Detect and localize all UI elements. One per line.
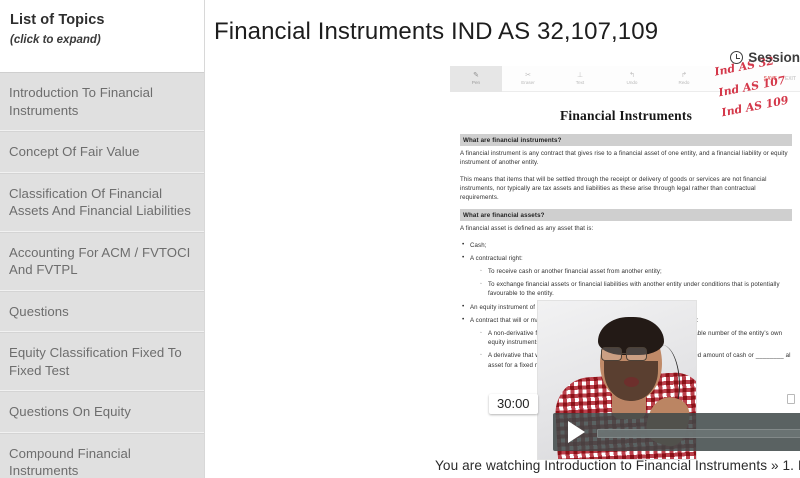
sidebar-item-7[interactable]: Compound Financial Instruments (0, 433, 204, 478)
whiteboard-tool-label: Eraser (521, 80, 535, 85)
page-title: Financial Instruments IND AS 32,107,109 (205, 0, 800, 46)
whiteboard-exit-button[interactable]: EXIT (785, 76, 796, 82)
whiteboard-tool-eraser[interactable]: ✂Eraser (502, 66, 554, 92)
clock-icon (730, 51, 743, 64)
sidebar-item-3[interactable]: Accounting For ACM / FVTOCI And FVTPL (0, 232, 204, 291)
whiteboard-tool-label: Redo (679, 80, 690, 85)
document-paragraph: A financial instrument is any contract t… (460, 149, 792, 167)
whiteboard-toolbar: ✎Pen✂Eraser⊥Text↰Undo↱RedoSAVEEXIT (450, 66, 800, 92)
progress-track[interactable] (597, 429, 800, 438)
whiteboard-tool-text[interactable]: ⊥Text (554, 66, 606, 92)
whiteboard-tool-pen[interactable]: ✎Pen (450, 66, 502, 92)
whiteboard-save-group[interactable]: SAVEEXIT (764, 76, 800, 82)
main-content: Financial Instruments IND AS 32,107,109 … (205, 0, 800, 478)
session-badge-label: Session (748, 50, 800, 65)
document-heading: What are financial instruments? (460, 134, 792, 146)
whiteboard-save-button[interactable]: SAVE (764, 76, 777, 82)
document-title: Financial Instruments (460, 108, 792, 124)
sidebar-item-5[interactable]: Equity Classification Fixed To Fixed Tes… (0, 332, 204, 391)
sidebar-item-0[interactable]: Introduction To Financial Instruments (0, 72, 204, 131)
sidebar-item-4[interactable]: Questions (0, 291, 204, 333)
document-paragraph: A financial asset is defined as any asse… (460, 224, 792, 233)
presenter-mouth (624, 377, 639, 387)
course-player-page: List of Topics (click to expand) Introdu… (0, 0, 800, 478)
whiteboard-tool-label: Undo (627, 80, 638, 85)
redo-icon: ↱ (681, 72, 687, 79)
text-icon: ⊥ (577, 72, 583, 79)
progress-bar[interactable]: 30:00 (597, 416, 800, 448)
sidebar-item-1[interactable]: Concept Of Fair Value (0, 131, 204, 173)
whiteboard-tool-label: Pen (472, 80, 480, 85)
document-sub-bullet: To receive cash or another financial ass… (460, 267, 792, 276)
sidebar-title: List of Topics (10, 12, 194, 28)
document-bullet: Cash; (460, 241, 792, 250)
undo-icon: ↰ (629, 72, 635, 79)
topic-list: Introduction To Financial InstrumentsCon… (0, 72, 204, 478)
glasses-left-lens (601, 347, 622, 361)
whiteboard-tool-redo[interactable]: ↱Redo (658, 66, 710, 92)
whiteboard-tool-undo[interactable]: ↰Undo (606, 66, 658, 92)
document-heading: What are financial assets? (460, 209, 792, 221)
session-badge: Session (730, 50, 800, 65)
glasses-right-lens (626, 347, 647, 361)
eraser-icon: ✂ (525, 72, 531, 79)
sidebar-item-2[interactable]: Classification Of Financial Assets And F… (0, 173, 204, 232)
glasses-bridge (622, 353, 627, 354)
video-control-bar[interactable]: 30:00 (553, 413, 800, 451)
play-button[interactable] (559, 416, 593, 448)
document-bullet: A contractual right: (460, 254, 792, 263)
pen-icon: ✎ (473, 72, 479, 79)
sidebar-subtitle: (click to expand) (10, 34, 194, 46)
sidebar-header: List of Topics (click to expand) (0, 0, 204, 72)
page-corner-icon (787, 394, 795, 404)
sidebar-item-6[interactable]: Questions On Equity (0, 391, 204, 433)
play-icon (568, 421, 585, 443)
now-playing-caption: You are watching Introduction to Financi… (435, 458, 800, 473)
time-tooltip: 30:00 (489, 394, 538, 414)
document-sub-bullet: To exchange financial assets or financia… (460, 280, 792, 298)
topics-sidebar: List of Topics (click to expand) Introdu… (0, 0, 205, 478)
whiteboard-tool-label: Text (576, 80, 584, 85)
document-paragraph: This means that items that will be settl… (460, 175, 792, 203)
